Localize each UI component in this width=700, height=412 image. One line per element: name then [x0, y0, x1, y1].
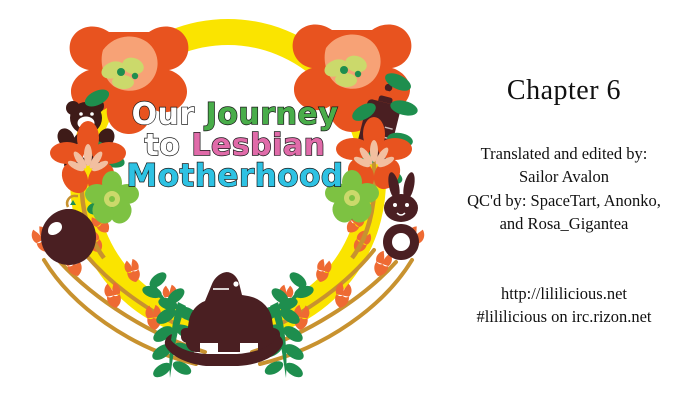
irc-channel: #lililicious on irc.rizon.net: [428, 305, 700, 328]
credits-block: Chapter 6 Translated and edited by: Sail…: [428, 0, 700, 412]
credit-line: QC'd by: SpaceTart, Anonko,: [428, 189, 700, 212]
baby-wreath-illustration: [0, 0, 450, 412]
credit-line: Translated and edited by:: [428, 142, 700, 165]
website-url[interactable]: http://lililicious.net: [428, 282, 700, 305]
credit-lines: Translated and edited by: Sailor Avalon …: [428, 142, 700, 236]
chapter-heading: Chapter 6: [428, 75, 700, 107]
credit-line: Sailor Avalon: [428, 165, 700, 188]
credit-line: and Rosa_Gigantea: [428, 212, 700, 235]
link-lines: http://lililicious.net #lililicious on i…: [428, 282, 700, 329]
chapter-credits-page: Our Journey to Lesbian Motherhood Chapte…: [0, 0, 700, 412]
